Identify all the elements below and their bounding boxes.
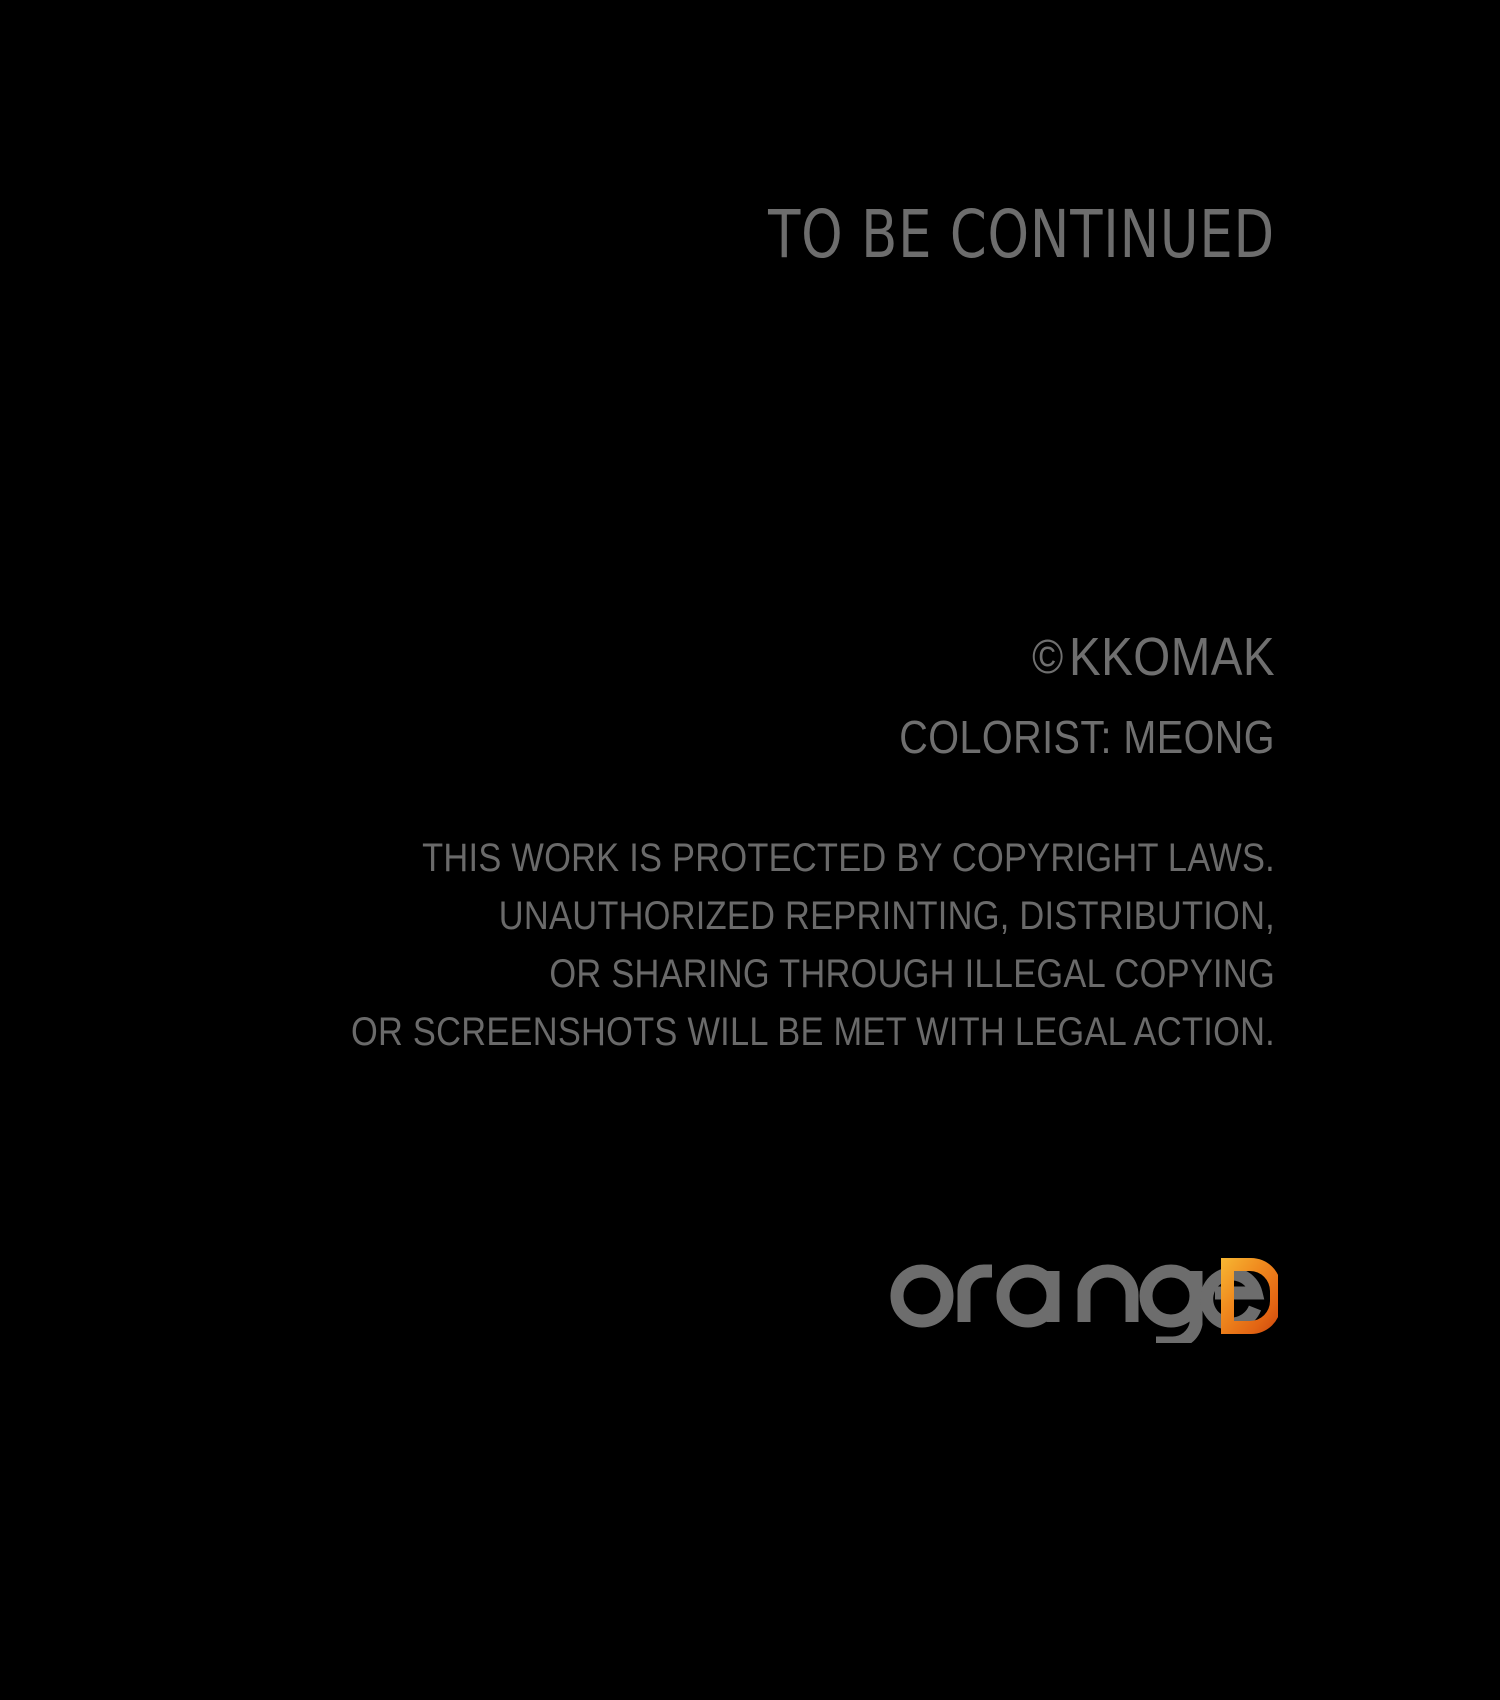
oranged-logo xyxy=(888,1238,1278,1343)
logo-wordmark-orange xyxy=(897,1271,1256,1343)
legal-line: OR SHARING THROUGH ILLEGAL COPYING xyxy=(286,954,1275,994)
end-card-page: TO BE CONTINUED ©KKOMAK COLORIST: MEONG … xyxy=(0,0,1500,1700)
legal-line: THIS WORK IS PROTECTED BY COPYRIGHT LAWS… xyxy=(286,838,1275,878)
to-be-continued-text: TO BE CONTINUED xyxy=(555,200,1275,269)
copyright-icon: © xyxy=(1032,631,1064,684)
copyright-holder-label: KKOMAK xyxy=(1069,627,1275,687)
credits-block: ©KKOMAK COLORIST: MEONG xyxy=(175,630,1275,760)
legal-line: OR SCREENSHOTS WILL BE MET WITH LEGAL AC… xyxy=(286,1012,1275,1052)
copyright-line: ©KKOMAK xyxy=(307,630,1275,684)
legal-line: UNAUTHORIZED REPRINTING, DISTRIBUTION, xyxy=(286,896,1275,936)
colorist-label: COLORIST: MEONG xyxy=(329,714,1275,760)
legal-notice-block: THIS WORK IS PROTECTED BY COPYRIGHT LAWS… xyxy=(125,838,1275,1052)
